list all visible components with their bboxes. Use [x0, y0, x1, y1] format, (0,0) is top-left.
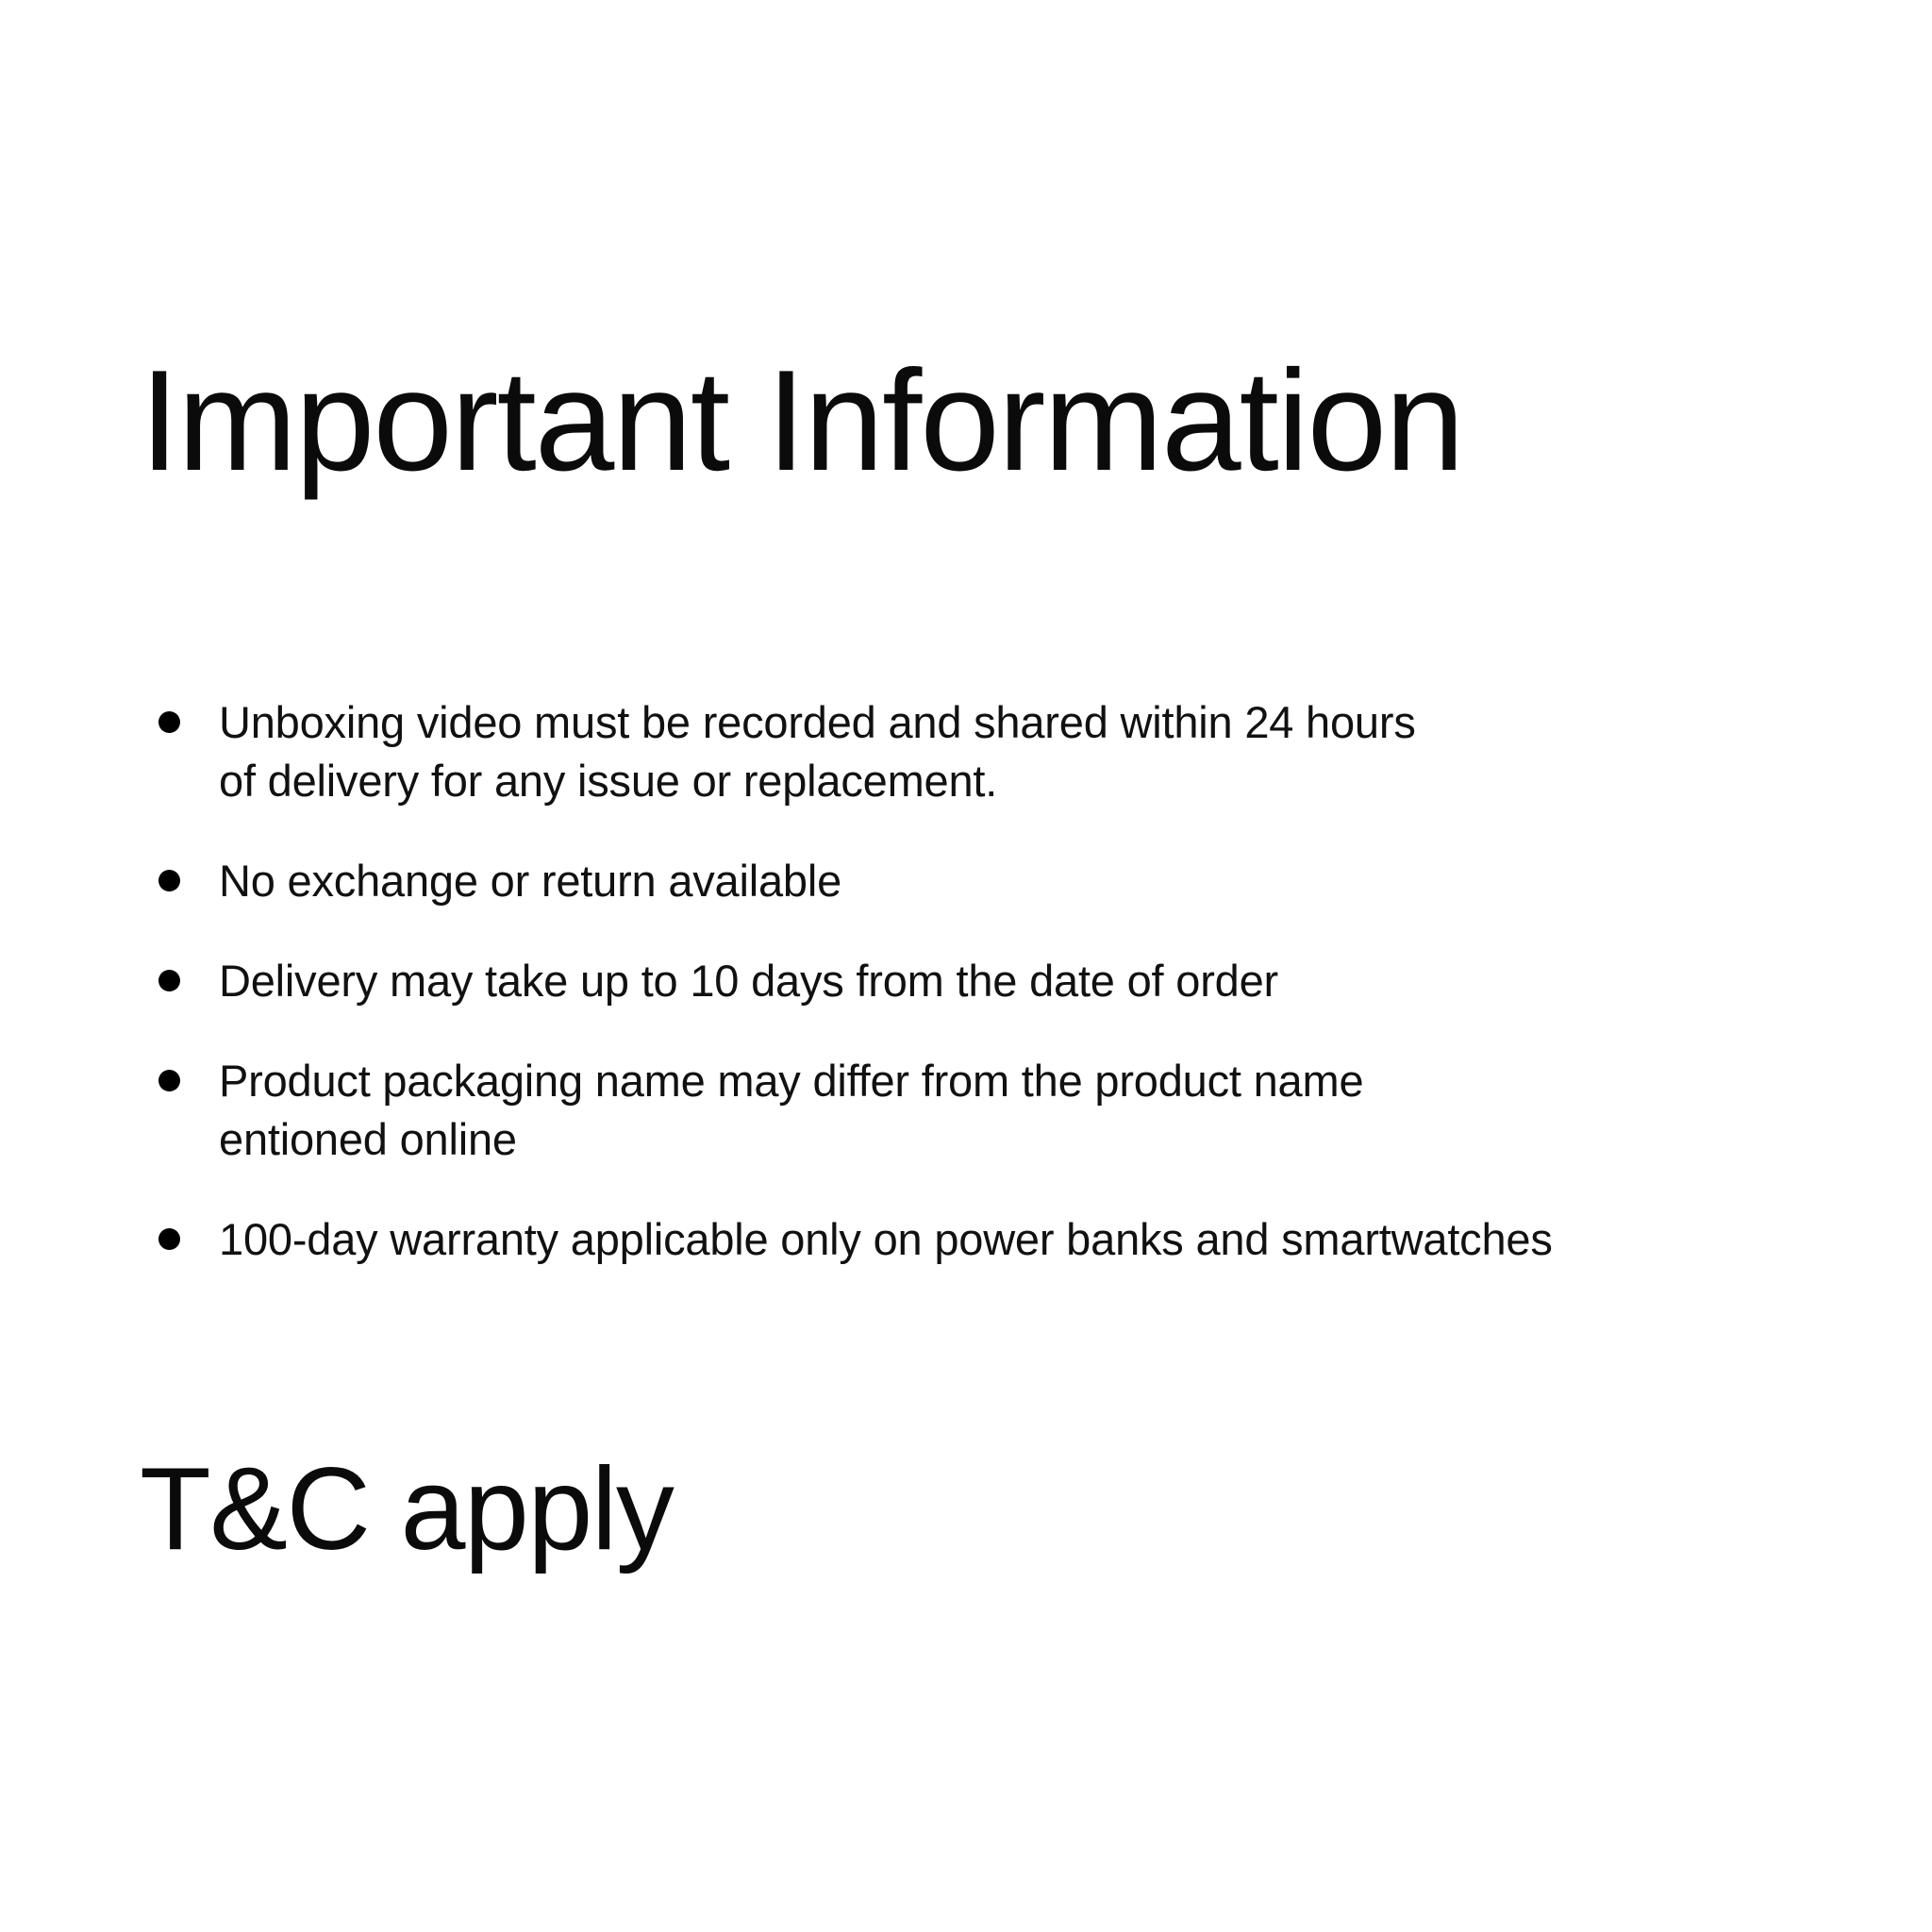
bullet-dot-icon — [158, 1070, 180, 1091]
list-item: 100-day warranty applicable only on powe… — [142, 1210, 1802, 1269]
information-notes-list: Unboxing video must be recorded and shar… — [142, 693, 1802, 1269]
bullet-dot-icon — [158, 870, 180, 891]
list-item: Delivery may take up to 10 days from the… — [142, 952, 1802, 1010]
note-text: 100-day warranty applicable only on powe… — [219, 1210, 1802, 1269]
page-title: Important Information — [140, 349, 1463, 492]
list-item: No exchange or return available — [142, 852, 1802, 910]
list-item: Product packaging name may differ from t… — [142, 1052, 1802, 1169]
note-text: Unboxing video must be recorded and shar… — [219, 693, 1802, 810]
list-item: Unboxing video must be recorded and shar… — [142, 693, 1802, 810]
important-information-poster: Important Information Unboxing video mus… — [0, 0, 1932, 1932]
bullet-dot-icon — [158, 711, 180, 733]
terms-and-conditions-label: T&C apply — [140, 1451, 673, 1568]
bullet-dot-icon — [158, 1228, 180, 1250]
note-text: Delivery may take up to 10 days from the… — [219, 952, 1802, 1010]
note-text: Product packaging name may differ from t… — [219, 1052, 1802, 1169]
bullet-dot-icon — [158, 970, 180, 991]
note-text: No exchange or return available — [219, 852, 1802, 910]
